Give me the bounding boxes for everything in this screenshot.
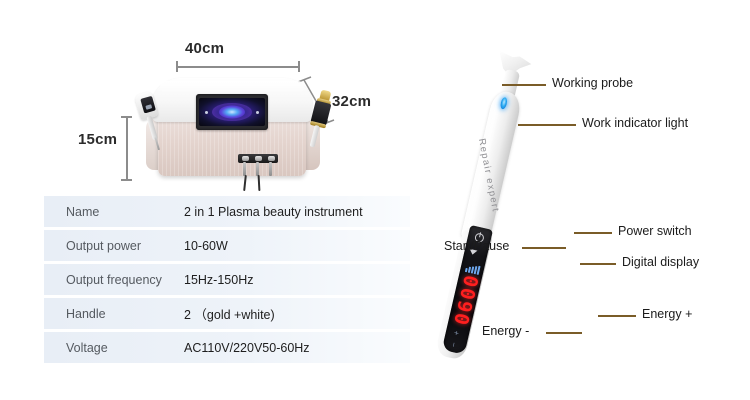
callout-label-working-probe: Working probe (552, 76, 633, 90)
dimension-label-height: 15cm (78, 131, 117, 148)
dimension-tick-width-left (176, 61, 178, 72)
dimension-line-width (176, 66, 300, 68)
handle-white-display (140, 96, 156, 114)
table-row: Handle 2 （gold +white) (44, 298, 410, 329)
connector-cable-2 (258, 175, 261, 191)
spec-value: 10-60W (184, 239, 228, 253)
spec-value: 2 （gold +white) (184, 304, 275, 323)
callout-label-work-indicator-light: Work indicator light (582, 116, 688, 130)
spec-key: Name (44, 205, 184, 219)
spec-value: 15Hz-150Hz (184, 273, 253, 287)
callout-label-start-pause: Start/Pause (444, 239, 509, 253)
energy-minus-icon[interactable]: − (449, 341, 459, 348)
table-row: Output frequency 15Hz-150Hz (44, 264, 410, 295)
spec-key: Output frequency (44, 273, 184, 287)
connector-pin-2 (256, 162, 259, 176)
screen-dot-right (256, 111, 259, 114)
connector-port-1 (242, 156, 249, 161)
energy-plus-icon[interactable]: + (451, 330, 461, 337)
connector-cable-1 (243, 175, 247, 191)
plasma-machine-image (130, 78, 340, 193)
dimension-label-width: 40cm (185, 40, 224, 57)
connector-port-2 (255, 156, 262, 161)
handle-white-tip (154, 137, 160, 150)
callout-label-digital-display: Digital display (622, 255, 699, 269)
callout-line-working-probe (502, 84, 546, 86)
screen-glass (199, 98, 265, 126)
connector-pin-3 (269, 162, 272, 176)
connector-pin-1 (243, 162, 246, 176)
specification-table: Name 2 in 1 Plasma beauty instrument Out… (44, 196, 410, 366)
callout-line-digital-display (580, 263, 616, 265)
table-row: Output power 10-60W (44, 230, 410, 261)
callout-line-work-indicator-light (518, 124, 576, 126)
machine-screen (196, 94, 268, 130)
callout-line-energy-minus (546, 332, 582, 334)
dimension-line-height (126, 116, 128, 180)
spec-key: Handle (44, 307, 184, 321)
spec-value: AC110V/220V50-60Hz (184, 341, 310, 355)
callout-line-power-switch (574, 232, 612, 234)
callout-label-energy-plus: Energy + (642, 307, 692, 321)
dimension-tick-width-right (298, 61, 300, 72)
connector-port-3 (268, 156, 275, 161)
plasma-core-graphic (219, 106, 245, 119)
table-row: Name 2 in 1 Plasma beauty instrument (44, 196, 410, 227)
callout-line-energy-plus (598, 315, 636, 317)
callout-label-power-switch: Power switch (618, 224, 692, 238)
spec-value: 2 in 1 Plasma beauty instrument (184, 205, 363, 219)
spec-key: Output power (44, 239, 184, 253)
handle-gold-stem (310, 125, 320, 148)
wand-diagram: Repair expert 0090 + − Working probe Wor… (440, 20, 750, 400)
callout-line-start-pause (522, 247, 566, 249)
screen-dot-left (205, 111, 208, 114)
handheld-wand: Repair expert 0090 + − (428, 50, 538, 352)
callout-label-energy-minus: Energy - (482, 324, 529, 338)
table-row: Voltage AC110V/220V50-60Hz (44, 332, 410, 363)
handle-white-stem (146, 116, 157, 140)
spec-key: Voltage (44, 341, 184, 355)
product-spec-sheet: 40cm 32cm 15cm (0, 0, 750, 400)
